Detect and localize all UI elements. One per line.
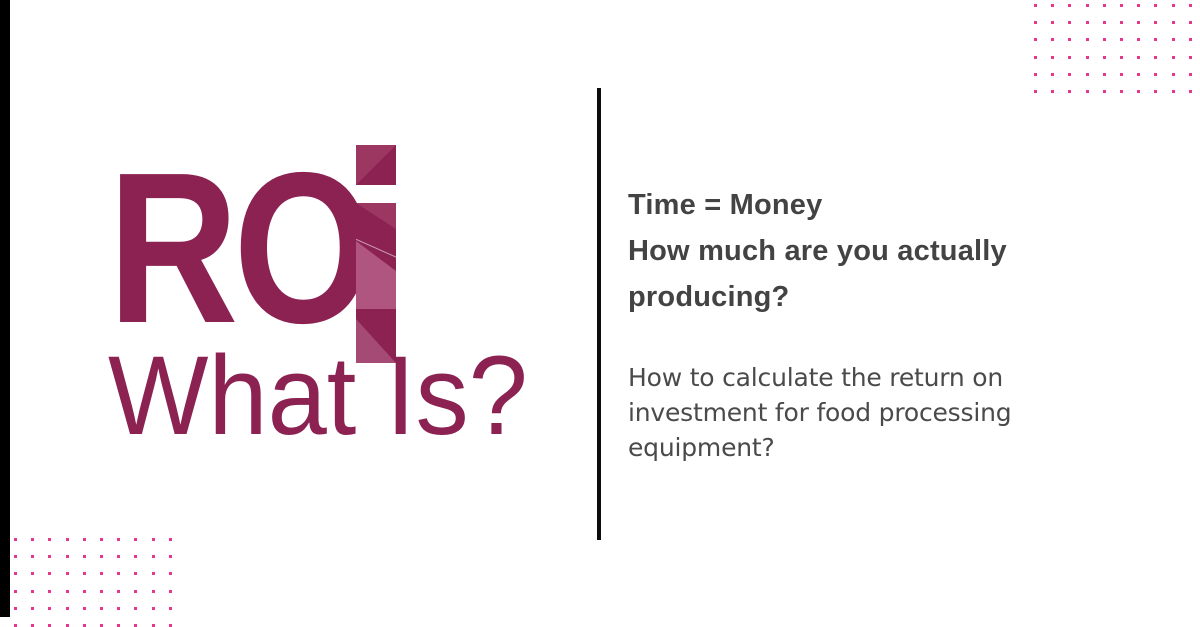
- decor-dot: [1137, 38, 1140, 41]
- decor-dot: [83, 538, 86, 541]
- decor-dot: [100, 607, 103, 610]
- lead-heading: Time = Money How much are you actually p…: [628, 182, 1108, 320]
- decor-dot: [152, 572, 155, 575]
- lead-line: producing?: [628, 274, 1108, 320]
- stylized-i-dot: [356, 145, 396, 185]
- decor-dot: [1154, 73, 1157, 76]
- decor-dot: [1051, 73, 1054, 76]
- vertical-divider: [597, 88, 601, 540]
- facet-top: [356, 203, 396, 229]
- decor-dot: [48, 607, 51, 610]
- decor-dot: [1120, 4, 1123, 7]
- decor-dot: [1154, 21, 1157, 24]
- decor-dot: [100, 538, 103, 541]
- decor-dot: [152, 607, 155, 610]
- decor-dot: [1034, 56, 1037, 59]
- decor-dot: [1068, 38, 1071, 41]
- decor-dot: [1051, 90, 1054, 93]
- decor-dot: [1103, 38, 1106, 41]
- decor-dot: [1068, 4, 1071, 7]
- decor-dot: [83, 555, 86, 558]
- decor-dot: [1051, 21, 1054, 24]
- decor-dot: [48, 572, 51, 575]
- decor-dot: [169, 555, 172, 558]
- decor-dot: [1068, 90, 1071, 93]
- decor-dot: [169, 607, 172, 610]
- decor-dot: [1137, 90, 1140, 93]
- body-line: How to calculate the return on: [628, 360, 1108, 395]
- dot-pattern-bottom-left: [14, 538, 174, 627]
- slide-canvas: RO What Is? Time = Money How much are yo…: [0, 0, 1200, 627]
- decor-dot: [152, 590, 155, 593]
- decor-dot: [1068, 56, 1071, 59]
- decor-dot: [1189, 90, 1192, 93]
- decor-dot: [1103, 56, 1106, 59]
- decor-dot: [152, 555, 155, 558]
- decor-dot: [1103, 90, 1106, 93]
- decor-dot: [14, 572, 17, 575]
- decor-dot: [117, 590, 120, 593]
- lead-line: Time = Money: [628, 182, 1108, 228]
- decor-dot: [14, 555, 17, 558]
- decor-dot: [83, 590, 86, 593]
- decor-dot: [66, 590, 69, 593]
- decor-dot: [117, 555, 120, 558]
- decor-dot: [169, 538, 172, 541]
- right-text-panel: Time = Money How much are you actually p…: [628, 182, 1108, 465]
- logo-subtitle: What Is?: [108, 340, 528, 452]
- decor-dot: [1120, 90, 1123, 93]
- decor-dot: [1103, 73, 1106, 76]
- body-line: equipment?: [628, 430, 1108, 465]
- decor-dot: [1034, 90, 1037, 93]
- decor-dot: [1086, 73, 1089, 76]
- decor-dot: [31, 572, 34, 575]
- decor-dot: [83, 607, 86, 610]
- decor-dot: [1034, 21, 1037, 24]
- decor-dot: [48, 555, 51, 558]
- decor-dot: [1154, 90, 1157, 93]
- roi-wordmark-row: RO: [108, 140, 508, 360]
- decor-dot: [14, 590, 17, 593]
- decor-dot: [66, 607, 69, 610]
- decor-dot: [1154, 56, 1157, 59]
- decor-dot: [48, 538, 51, 541]
- decor-dot: [1120, 73, 1123, 76]
- decor-dot: [1189, 21, 1192, 24]
- decor-dot: [1103, 21, 1106, 24]
- decor-dot: [169, 572, 172, 575]
- decor-dot: [1137, 56, 1140, 59]
- decor-dot: [1189, 73, 1192, 76]
- lead-line: How much are you actually: [628, 228, 1108, 274]
- decor-dot: [100, 555, 103, 558]
- decor-dot: [117, 607, 120, 610]
- decor-dot: [1086, 21, 1089, 24]
- decor-dot: [1189, 4, 1192, 7]
- decor-dot: [134, 555, 137, 558]
- decor-dot: [100, 572, 103, 575]
- decor-dot: [134, 607, 137, 610]
- decor-dot: [66, 555, 69, 558]
- decor-dot: [1172, 56, 1175, 59]
- decor-dot: [134, 538, 137, 541]
- decor-dot: [1189, 38, 1192, 41]
- decor-dot: [1086, 90, 1089, 93]
- dot-pattern-top-right: [1034, 4, 1200, 94]
- decor-dot: [100, 590, 103, 593]
- left-edge-bar: [0, 0, 10, 617]
- decor-dot: [1068, 21, 1071, 24]
- decor-dot: [1172, 73, 1175, 76]
- decor-dot: [1172, 21, 1175, 24]
- decor-dot: [66, 538, 69, 541]
- decor-dot: [14, 538, 17, 541]
- decor-dot: [1172, 90, 1175, 93]
- decor-dot: [31, 607, 34, 610]
- decor-dot: [1120, 21, 1123, 24]
- decor-dot: [1137, 21, 1140, 24]
- decor-dot: [1172, 38, 1175, 41]
- decor-dot: [1051, 4, 1054, 7]
- decor-dot: [31, 590, 34, 593]
- decor-dot: [1137, 73, 1140, 76]
- decor-dot: [1068, 73, 1071, 76]
- decor-dot: [66, 572, 69, 575]
- decor-dot: [1086, 4, 1089, 7]
- decor-dot: [117, 572, 120, 575]
- decor-dot: [31, 538, 34, 541]
- decor-dot: [31, 555, 34, 558]
- decor-dot: [1172, 4, 1175, 7]
- decor-dot: [1154, 38, 1157, 41]
- decor-dot: [1051, 38, 1054, 41]
- decor-dot: [169, 590, 172, 593]
- decor-dot: [1086, 56, 1089, 59]
- decor-dot: [1034, 38, 1037, 41]
- decor-dot: [1034, 4, 1037, 7]
- decor-dot: [14, 607, 17, 610]
- decor-dot: [1120, 56, 1123, 59]
- decor-dot: [134, 590, 137, 593]
- decor-dot: [1120, 38, 1123, 41]
- decor-dot: [1154, 4, 1157, 7]
- decor-dot: [1103, 4, 1106, 7]
- body-line: investment for food processing: [628, 395, 1108, 430]
- decor-dot: [152, 538, 155, 541]
- stylized-i-glyph: [356, 145, 400, 363]
- facet-middle-dark: [356, 241, 396, 271]
- decor-dot: [83, 572, 86, 575]
- decor-dot: [1137, 4, 1140, 7]
- decor-dot: [117, 538, 120, 541]
- decor-dot: [48, 590, 51, 593]
- roi-logo-block: RO What Is?: [108, 140, 508, 470]
- decor-dot: [134, 572, 137, 575]
- roi-wordmark: RO: [108, 140, 369, 355]
- decor-dot: [1051, 56, 1054, 59]
- body-paragraph: How to calculate the return on investmen…: [628, 360, 1108, 465]
- decor-dot: [1034, 73, 1037, 76]
- decor-dot: [1086, 38, 1089, 41]
- decor-dot: [1189, 56, 1192, 59]
